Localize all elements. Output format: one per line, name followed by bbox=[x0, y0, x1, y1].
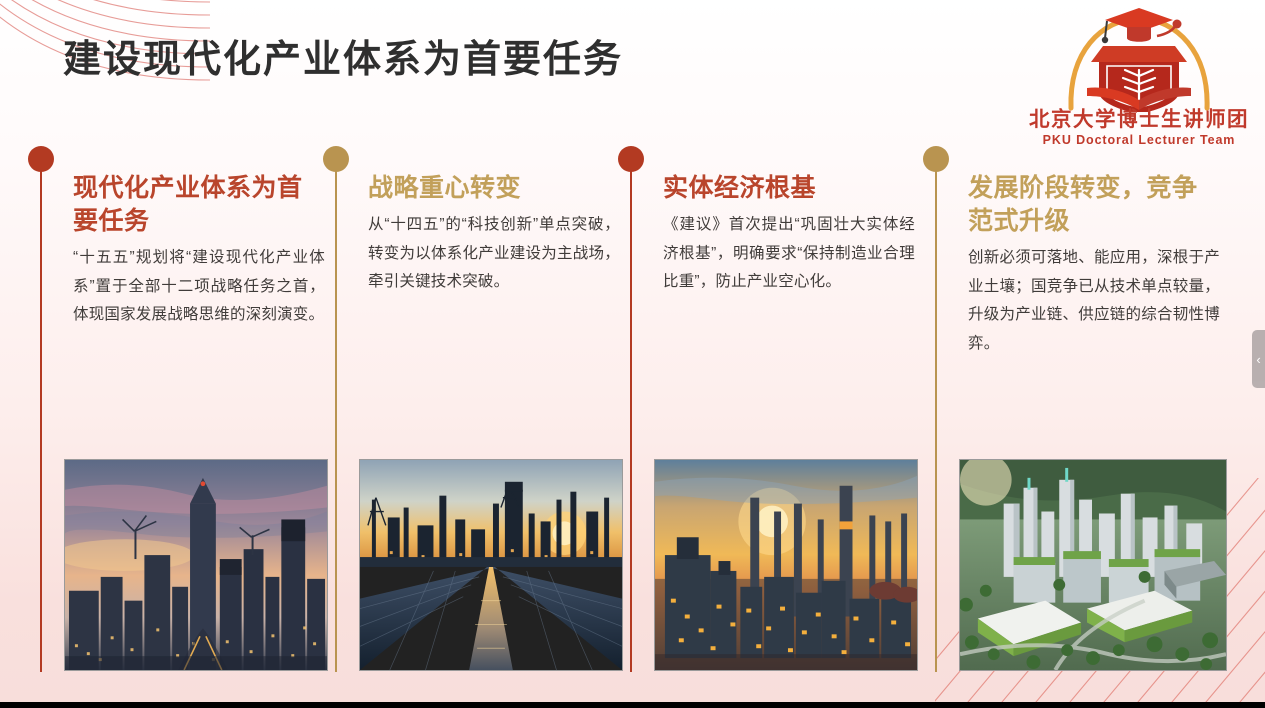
solar-panels-industrial-plant-photo bbox=[359, 459, 623, 671]
timeline-rule bbox=[335, 168, 337, 672]
column-text: 从“十四五”的“科技创新”单点突破，转变为以体系化产业建设为主战场，牵引关键技术… bbox=[368, 211, 620, 297]
timeline-rule bbox=[630, 168, 632, 672]
timeline-columns: 现代化产业体系为首要任务 “十五五”规划将“建设现代化产业体系”置于全部十二项战… bbox=[0, 146, 1265, 686]
timeline-marker-dot bbox=[618, 146, 644, 172]
column-body: 战略重心转变 从“十四五”的“科技创新”单点突破，转变为以体系化产业建设为主战场… bbox=[368, 172, 620, 297]
column-body: 实体经济根基 《建议》首次提出“巩固壮大实体经济根基”，明确要求“保持制造业合理… bbox=[663, 172, 915, 297]
column-heading: 战略重心转变 bbox=[368, 172, 620, 205]
green-eco-city-photo bbox=[959, 459, 1227, 671]
column-heading: 现代化产业体系为首要任务 bbox=[73, 172, 325, 238]
organization-logo: 北京大学博士生讲师团 PKU Doctoral Lecturer Team bbox=[1027, 4, 1251, 162]
graduation-podium-logo-icon bbox=[1041, 4, 1237, 112]
column-text: “十五五”规划将“建设现代化产业体系”置于全部十二项战略任务之首，体现国家发展战… bbox=[73, 244, 325, 330]
column-heading: 实体经济根基 bbox=[663, 172, 915, 205]
column-body: 现代化产业体系为首要任务 “十五五”规划将“建设现代化产业体系”置于全部十二项战… bbox=[73, 172, 325, 330]
presentation-slide: 建设现代化产业体系为首要任务 bbox=[0, 0, 1265, 708]
timeline-marker-dot bbox=[323, 146, 349, 172]
refinery-golden-sunset-photo bbox=[654, 459, 918, 671]
column-heading: 发展阶段转变，竞争范式升级 bbox=[968, 172, 1220, 238]
logo-name-cn: 北京大学博士生讲师团 bbox=[1027, 110, 1251, 131]
column-text: 创新必须可落地、能应用，深根于产业土壤；国竞争已从技术单点较量，升级为产业链、供… bbox=[968, 244, 1220, 359]
chevron-left-icon: ‹ bbox=[1256, 353, 1260, 366]
column-body: 发展阶段转变，竞争范式升级 创新必须可落地、能应用，深根于产业土壤；国竞争已从技… bbox=[968, 172, 1220, 359]
column-text: 《建议》首次提出“巩固壮大实体经济根基”，明确要求“保持制造业合理比重”，防止产… bbox=[663, 211, 915, 297]
timeline-marker-dot bbox=[923, 146, 949, 172]
timeline-rule bbox=[40, 168, 42, 672]
city-skyline-sunset-photo bbox=[64, 459, 328, 671]
timeline-marker-dot bbox=[28, 146, 54, 172]
slide-title: 建设现代化产业体系为首要任务 bbox=[63, 37, 623, 85]
panel-collapse-button[interactable]: ‹ bbox=[1252, 330, 1265, 388]
bottom-black-bar bbox=[0, 702, 1265, 708]
timeline-rule bbox=[935, 168, 937, 672]
logo-name-en: PKU Doctoral Lecturer Team bbox=[1027, 134, 1251, 148]
